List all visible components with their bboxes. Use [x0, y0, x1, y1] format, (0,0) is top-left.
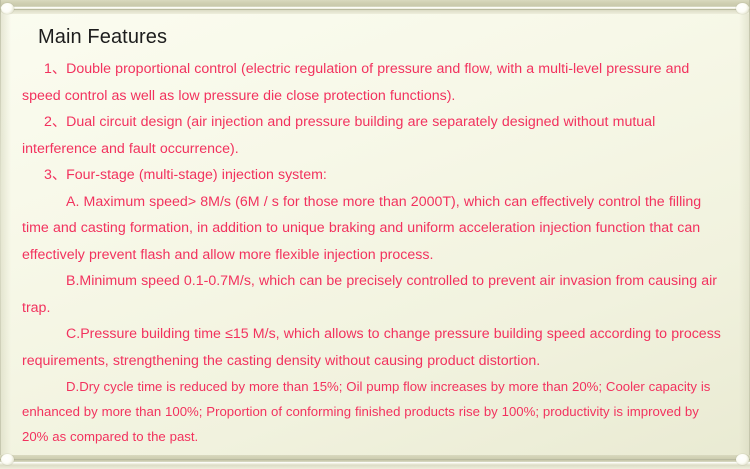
features-content: Main Features 1、Double proportional cont…	[0, 14, 750, 449]
feature-item-b: B.Minimum speed 0.1-0.7M/s, which can be…	[22, 268, 728, 321]
feature-item-1: 1、Double proportional control (electric …	[22, 56, 728, 109]
product-features-panel: Main Features 1、Double proportional cont…	[0, 0, 750, 469]
top-left-knob-icon	[1, 3, 14, 14]
top-right-knob-icon	[736, 3, 749, 14]
page-title: Main Features	[38, 24, 728, 50]
decorative-top-bar	[0, 0, 750, 14]
feature-item-2: 2、Dual circuit design (air injection and…	[22, 109, 728, 162]
feature-item-a: A. Maximum speed> 8M/s (6M / s for those…	[22, 189, 728, 269]
feature-item-3: 3、Four-stage (multi-stage) injection sys…	[22, 162, 728, 189]
bottom-left-knob-icon	[1, 454, 14, 465]
top-bar-divider-line	[0, 9, 750, 10]
feature-item-d: D.Dry cycle time is reduced by more than…	[22, 374, 728, 449]
bottom-bar-divider-line	[0, 459, 750, 460]
bottom-right-knob-icon	[736, 454, 749, 465]
decorative-bottom-bar	[0, 455, 750, 469]
feature-item-c: C.Pressure building time ≤15 M/s, which …	[22, 321, 728, 374]
